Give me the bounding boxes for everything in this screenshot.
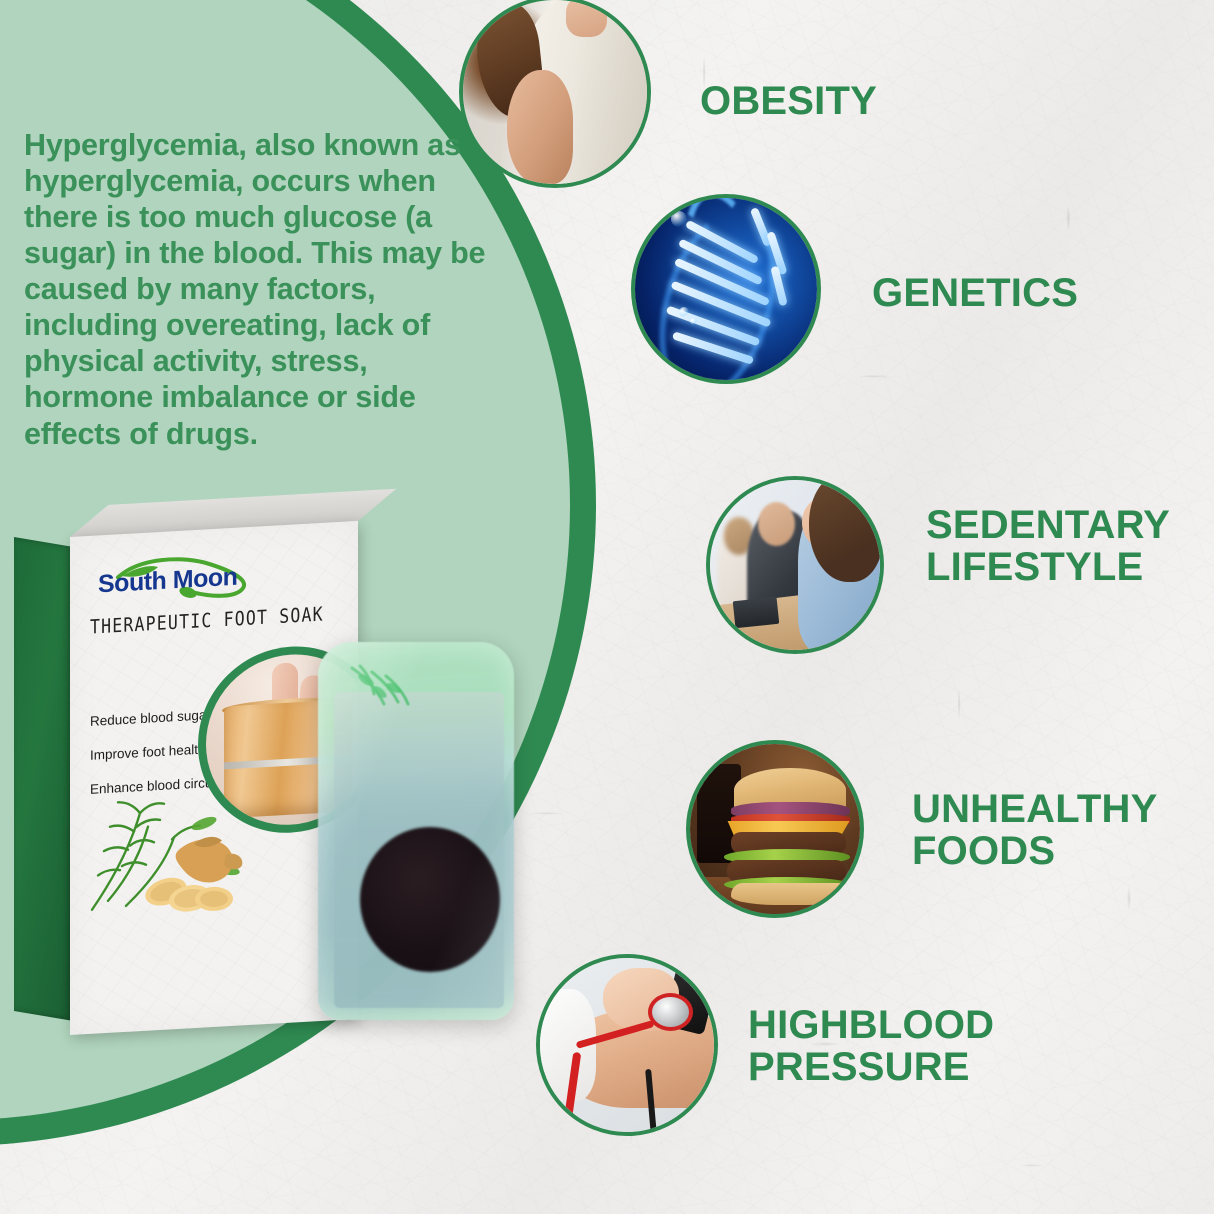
factor-image-genetics xyxy=(631,194,821,384)
factor-label-unhealthy-foods: UNHEALTHY FOODS xyxy=(912,788,1158,873)
factor-label-obesity: OBESITY xyxy=(700,80,877,122)
box-side-panel xyxy=(14,537,72,1021)
factor-label-sedentary: SEDENTARY LIFESTYLE xyxy=(926,504,1170,589)
light-bubble xyxy=(690,318,697,325)
factor-label-high-blood-pressure: HIGHBLOOD PRESSURE xyxy=(748,1004,994,1089)
arm-shape xyxy=(507,70,573,184)
factor-image-high-blood-pressure xyxy=(536,954,718,1136)
bottom-bun-shape xyxy=(731,883,850,905)
headline-paragraph: Hyperglycemia, also known as hyperglycem… xyxy=(24,127,504,452)
cheeseburger-photo xyxy=(690,744,860,914)
foot-patch-sachet xyxy=(318,642,514,1020)
man-head-shape xyxy=(758,502,795,546)
factor-label-genetics: GENETICS xyxy=(872,272,1078,314)
neck-shape xyxy=(566,0,606,37)
factor-image-unhealthy-foods xyxy=(686,740,864,918)
office-workers-photo xyxy=(710,480,880,650)
laptop-shape xyxy=(732,597,779,629)
box-front-panel: South Moon THERAPEUTIC FOOT SOAK Reduce … xyxy=(70,521,358,1035)
stethoscope-chestpiece-icon xyxy=(648,993,693,1031)
stethoscope-arm-photo xyxy=(540,958,714,1132)
light-bubble xyxy=(679,307,689,317)
factor-image-sedentary xyxy=(706,476,884,654)
infographic-canvas: Hyperglycemia, also known as hyperglycem… xyxy=(0,0,1214,1214)
dna-helix-photo xyxy=(635,198,817,380)
ginger-root-illustration xyxy=(140,827,250,915)
mint-panel-top-fill xyxy=(0,0,20,130)
sachet-plastic-sheen xyxy=(318,642,514,1020)
